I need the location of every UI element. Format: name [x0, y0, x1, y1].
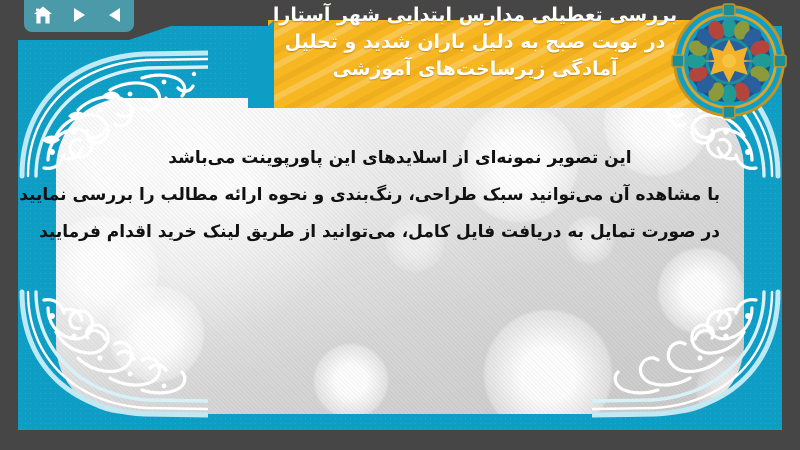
navigation-bar [24, 0, 134, 32]
body-line-3: در صورت تمایل به دریافت فایل کامل، می‌تو… [80, 214, 720, 251]
triangle-left-icon [106, 6, 124, 24]
previous-button[interactable] [102, 3, 128, 27]
next-button[interactable] [66, 3, 92, 27]
slide-viewer: این تصویر نمونه‌ای از اسلایدهای این پاور… [0, 0, 800, 450]
body-line-2: با مشاهده آن می‌توانید سبک طراحی، رنگ‌بن… [80, 177, 720, 214]
home-button[interactable] [30, 3, 56, 27]
triangle-right-icon [70, 6, 88, 24]
persian-medallion-icon [670, 2, 788, 120]
body-line-1: این تصویر نمونه‌ای از اسلایدهای این پاور… [80, 140, 720, 177]
slide-body-text: این تصویر نمونه‌ای از اسلایدهای این پاور… [80, 140, 720, 251]
home-icon [33, 6, 53, 25]
